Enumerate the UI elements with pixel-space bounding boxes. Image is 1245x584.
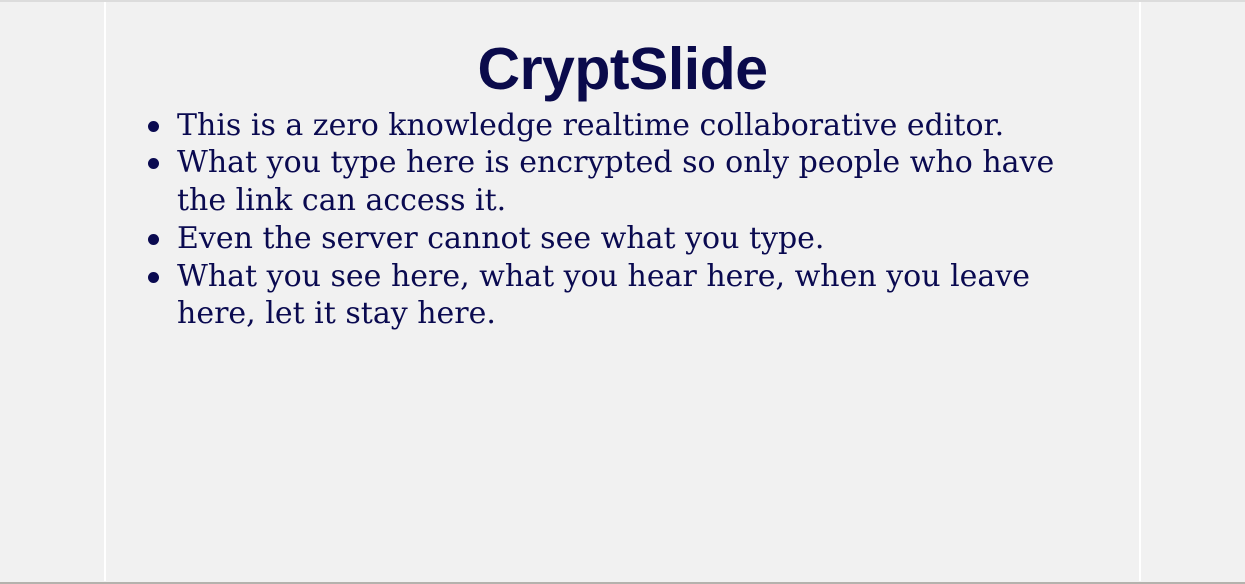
filled-disc-icon [148,272,159,283]
slide-canvas[interactable]: CryptSlide This is a zero knowledge real… [106,2,1139,582]
filled-disc-icon [148,234,159,245]
bullet-text: What you see here, what you hear here, w… [177,258,1084,333]
slide-title[interactable]: CryptSlide [106,2,1139,102]
list-item[interactable]: What you see here, what you hear here, w… [148,258,1084,333]
list-item[interactable]: This is a zero knowledge realtime collab… [148,107,1084,145]
bullet-text: What you type here is encrypted so only … [177,144,1084,219]
list-item[interactable]: What you type here is encrypted so only … [148,144,1084,219]
filled-disc-icon [148,158,159,169]
right-gutter [1141,2,1245,582]
filled-disc-icon [148,121,159,132]
slide-right-edge-rule [1139,2,1141,581]
list-item[interactable]: Even the server cannot see what you type… [148,220,1084,258]
bullet-text: This is a zero knowledge realtime collab… [177,107,1084,145]
bullet-text: Even the server cannot see what you type… [177,220,1084,258]
left-gutter [0,2,104,582]
slide-bullet-list[interactable]: This is a zero knowledge realtime collab… [106,107,1139,333]
